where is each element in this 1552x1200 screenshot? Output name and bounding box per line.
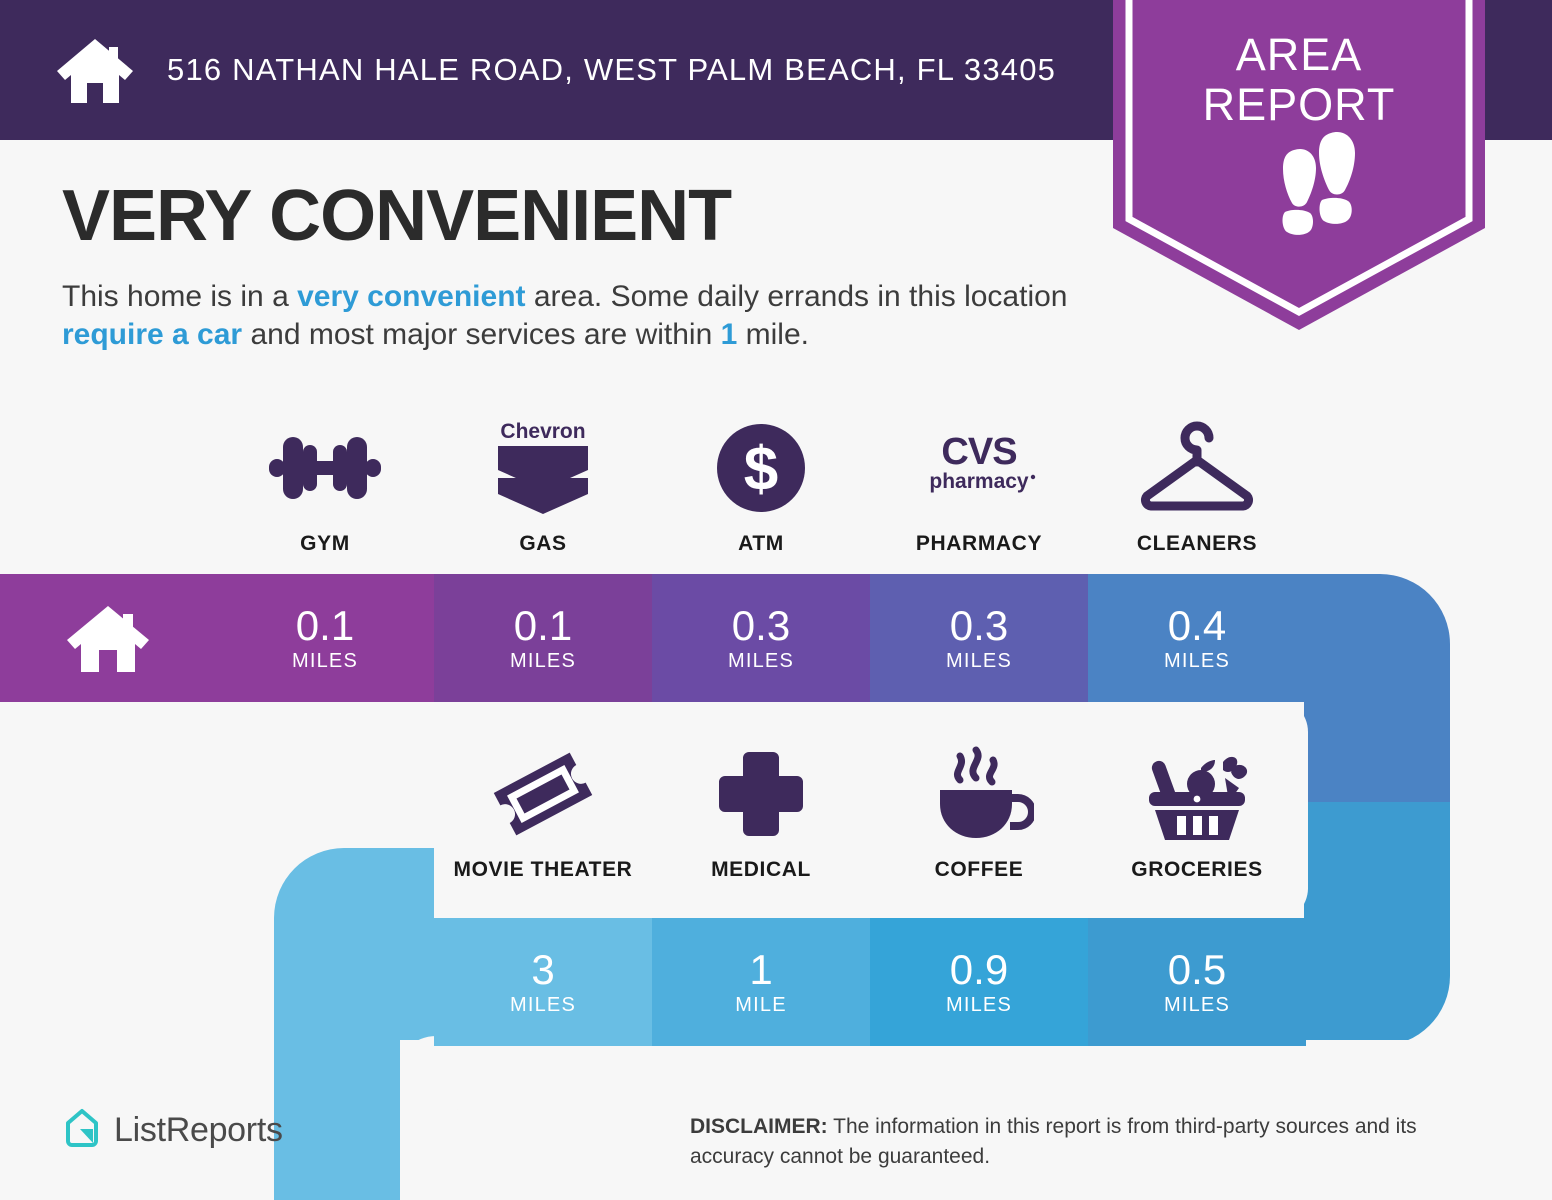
category-label: GYM	[300, 532, 350, 556]
category-label: ATM	[738, 532, 784, 556]
home-icon	[65, 602, 151, 674]
distance-unit: MILES	[1164, 994, 1230, 1017]
category-movie-theater: MOVIE THEATER	[434, 744, 652, 882]
distance-unit: MILES	[292, 650, 358, 673]
distance-bar-row-2: 3 MILES 1 MILE 0.9 MILES 0.5 MILES	[434, 918, 1306, 1046]
movie-ticket-icon	[488, 744, 598, 844]
distance-value: 0.1	[514, 604, 572, 648]
bar-home-cell	[0, 574, 216, 702]
area-report-page: 516 NATHAN HALE ROAD, WEST PALM BEACH, F…	[0, 0, 1552, 1200]
category-label: COFFEE	[935, 858, 1024, 882]
category-icons-row-1: GYM Chevron GAS $ ATM	[216, 418, 1306, 556]
distance-unit: MILE	[735, 994, 786, 1017]
distance-cell-medical: 1 MILE	[652, 918, 870, 1046]
hero-description: This home is in a very convenient area. …	[62, 278, 1102, 354]
svg-text:Chevron: Chevron	[500, 420, 585, 443]
distance-bar-row-1: 0.1 MILES 0.1 MILES 0.3 MILES 0.3 MILES …	[0, 574, 1306, 702]
medical-cross-icon	[713, 744, 809, 844]
distance-value: 0.3	[732, 604, 790, 648]
distance-unit: MILES	[1164, 650, 1230, 673]
disclaimer: DISCLAIMER: The information in this repo…	[690, 1112, 1490, 1172]
category-medical: MEDICAL	[652, 744, 870, 882]
svg-text:CVS: CVS	[941, 431, 1016, 473]
distance-value: 0.3	[950, 604, 1008, 648]
category-atm: $ ATM	[652, 418, 870, 556]
category-coffee: COFFEE	[870, 744, 1088, 882]
category-cleaners: CLEANERS	[1088, 418, 1306, 556]
svg-text:$: $	[744, 435, 778, 504]
distance-unit: MILES	[946, 650, 1012, 673]
distance-cell-coffee: 0.9 MILES	[870, 918, 1088, 1046]
category-pharmacy: CVS pharmacy PHARMACY	[870, 418, 1088, 556]
dumbbell-icon	[259, 418, 391, 518]
distance-value: 0.4	[1168, 604, 1226, 648]
logo-text: ListReports	[114, 1111, 283, 1150]
category-groceries: GROCERIES	[1088, 744, 1306, 882]
category-gym: GYM	[216, 418, 434, 556]
category-label: MOVIE THEATER	[454, 858, 633, 882]
category-label: MEDICAL	[711, 858, 811, 882]
distance-cell-atm: 0.3 MILES	[652, 574, 870, 702]
hero-section: VERY CONVENIENT This home is in a very c…	[62, 178, 1102, 354]
listreports-logo: ListReports	[62, 1107, 283, 1154]
grocery-basket-icon	[1139, 744, 1255, 844]
category-label: PHARMACY	[916, 532, 1042, 556]
category-gas: Chevron GAS	[434, 418, 652, 556]
clothes-hanger-icon	[1137, 418, 1257, 518]
distance-cell-movie-theater: 3 MILES	[434, 918, 652, 1046]
distance-value: 1	[749, 948, 772, 992]
category-label: CLEANERS	[1137, 532, 1257, 556]
distance-value: 3	[531, 948, 554, 992]
coffee-cup-icon	[924, 744, 1034, 844]
distance-value: 0.9	[950, 948, 1008, 992]
listreports-house-icon	[62, 1107, 102, 1154]
desc-highlight-3: 1	[721, 318, 738, 351]
distance-cell-gym: 0.1 MILES	[216, 574, 434, 702]
svg-text:pharmacy: pharmacy	[929, 470, 1029, 493]
page-title: VERY CONVENIENT	[62, 178, 1102, 254]
distance-value: 0.1	[296, 604, 354, 648]
cvs-pharmacy-logo-icon: CVS pharmacy	[916, 418, 1042, 518]
area-report-badge: AREA REPORT	[1113, 0, 1485, 330]
distance-cell-gas: 0.1 MILES	[434, 574, 652, 702]
category-label: GROCERIES	[1131, 858, 1262, 882]
desc-highlight-1: very convenient	[297, 280, 525, 313]
desc-part-4: mile.	[737, 318, 809, 351]
desc-part-1: This home is in a	[62, 280, 297, 313]
distance-unit: MILES	[946, 994, 1012, 1017]
category-label: GAS	[519, 532, 566, 556]
desc-part-3: and most major services are within	[242, 318, 721, 351]
home-icon	[55, 35, 135, 105]
distance-unit: MILES	[510, 650, 576, 673]
desc-part-2: area. Some daily errands in this locatio…	[526, 280, 1068, 313]
distance-unit: MILES	[728, 650, 794, 673]
desc-highlight-2: require a car	[62, 318, 242, 351]
dollar-circle-icon: $	[713, 418, 809, 518]
disclaimer-label: DISCLAIMER:	[690, 1115, 828, 1138]
distance-cell-pharmacy: 0.3 MILES	[870, 574, 1088, 702]
distance-value: 0.5	[1168, 948, 1226, 992]
chevron-logo-icon: Chevron	[490, 418, 596, 518]
category-icons-row-2: MOVIE THEATER MEDICAL	[434, 744, 1306, 882]
distance-cell-groceries: 0.5 MILES	[1088, 918, 1306, 1046]
distance-cell-cleaners: 0.4 MILES	[1088, 574, 1306, 702]
property-address: 516 NATHAN HALE ROAD, WEST PALM BEACH, F…	[167, 52, 1056, 88]
distance-unit: MILES	[510, 994, 576, 1017]
